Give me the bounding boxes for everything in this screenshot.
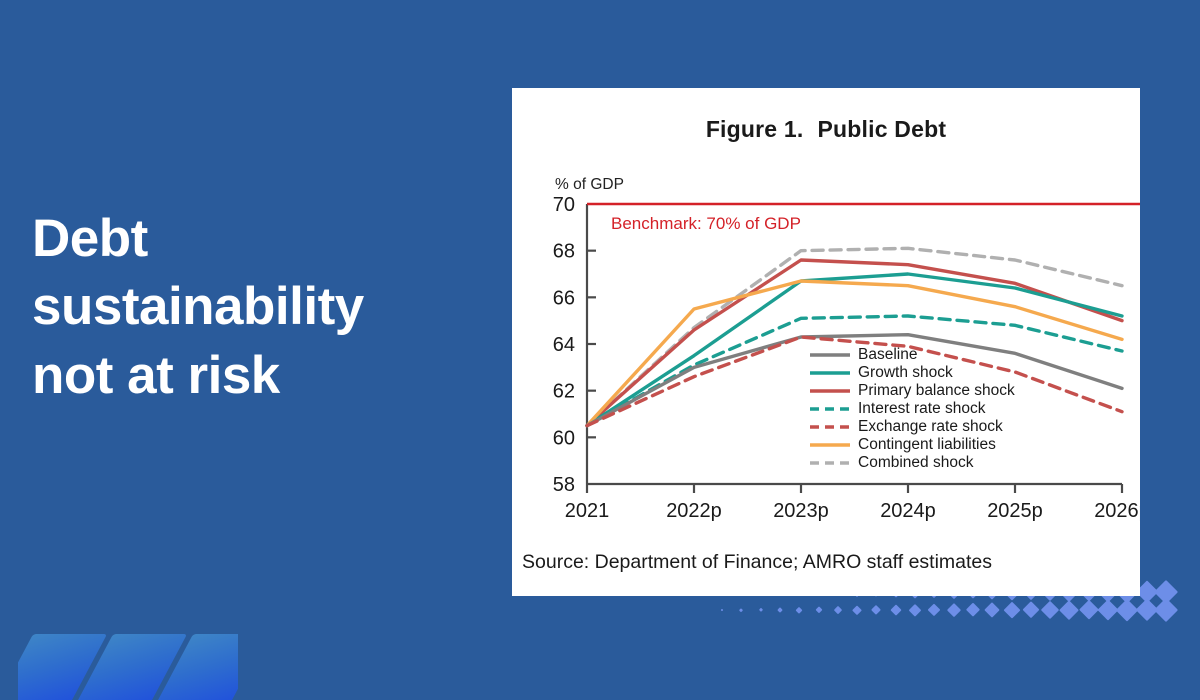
diamond-shape	[721, 609, 724, 612]
legend-swatch-icon	[809, 348, 851, 362]
y-tick-label: 70	[553, 194, 575, 216]
legend-swatch-icon	[809, 438, 851, 452]
figure-card: Figure 1.Public Debt % of GDP 5860626466…	[512, 88, 1140, 596]
legend-label: Baseline	[858, 346, 917, 364]
legend-swatch-icon	[809, 384, 851, 398]
figure-title-prefix: Figure 1.	[706, 116, 804, 142]
diamond-shape	[739, 608, 743, 612]
diamond-shape	[834, 606, 842, 614]
chart-legend: BaselineGrowth shockPrimary balance shoc…	[809, 346, 1015, 472]
x-tick-label: 2021	[565, 500, 610, 522]
diamond-shape	[947, 603, 961, 617]
legend-label: Primary balance shock	[858, 382, 1015, 400]
figure-title: Figure 1.Public Debt	[512, 116, 1140, 143]
legend-label: Combined shock	[858, 454, 973, 472]
diamond-shape	[984, 602, 1000, 618]
legend-item[interactable]: Baseline	[809, 346, 1015, 364]
diamond-shape	[871, 605, 881, 615]
diamond-shape	[965, 603, 980, 618]
legend-label: Contingent liabilities	[858, 436, 996, 454]
legend-item[interactable]: Growth shock	[809, 364, 1015, 382]
diamond-shape	[1154, 598, 1178, 622]
figure-source-note: Source: Department of Finance; AMRO staf…	[522, 551, 992, 574]
diamond-shape	[890, 604, 901, 615]
benchmark-label: Benchmark: 70% of GDP	[611, 214, 801, 233]
diamond-shape	[909, 604, 921, 616]
diamond-shape	[1003, 602, 1020, 619]
x-tick-label: 2022p	[666, 500, 722, 522]
legend-label: Exchange rate shock	[858, 418, 1003, 436]
diamond-shape	[1022, 601, 1040, 619]
x-tick-label: 2026p	[1094, 500, 1140, 522]
chevron-decoration	[18, 634, 238, 700]
legend-swatch-icon	[809, 402, 851, 416]
legend-item[interactable]: Contingent liabilities	[809, 436, 1015, 454]
legend-swatch-icon	[809, 366, 851, 380]
diamond-shape	[1041, 601, 1059, 619]
y-tick-label: 60	[553, 427, 575, 449]
headline-line: Debt	[32, 205, 472, 273]
x-tick-label: 2024p	[880, 500, 936, 522]
diamond-shape	[1079, 600, 1099, 620]
legend-item[interactable]: Combined shock	[809, 454, 1015, 472]
diamond-shape	[758, 608, 763, 613]
y-tick-label: 62	[553, 381, 575, 403]
legend-item[interactable]: Interest rate shock	[809, 400, 1015, 418]
headline-text: Debt sustainability not at risk	[32, 205, 472, 410]
diamond-shape	[777, 607, 783, 613]
figure-title-main: Public Debt	[817, 116, 946, 142]
headline-line: sustainability	[32, 273, 472, 341]
y-tick-label: 68	[553, 241, 575, 263]
diamond-shape	[928, 604, 941, 617]
slide-canvas: Debt sustainability not at risk Figure 1…	[0, 0, 1200, 700]
y-tick-label: 66	[553, 287, 575, 309]
legend-item[interactable]: Primary balance shock	[809, 382, 1015, 400]
legend-swatch-icon	[809, 420, 851, 434]
diamond-shape	[1060, 600, 1079, 619]
legend-label: Growth shock	[858, 364, 953, 382]
x-tick-label: 2023p	[773, 500, 829, 522]
diamond-shape	[852, 605, 861, 614]
diamond-shape	[796, 607, 802, 613]
y-tick-label: 58	[553, 474, 575, 496]
y-tick-label: 64	[553, 334, 575, 356]
diamond-shape	[815, 606, 822, 613]
headline-line: not at risk	[32, 342, 472, 410]
x-tick-label: 2025p	[987, 500, 1043, 522]
legend-label: Interest rate shock	[858, 400, 986, 418]
legend-swatch-icon	[809, 456, 851, 470]
legend-item[interactable]: Exchange rate shock	[809, 418, 1015, 436]
